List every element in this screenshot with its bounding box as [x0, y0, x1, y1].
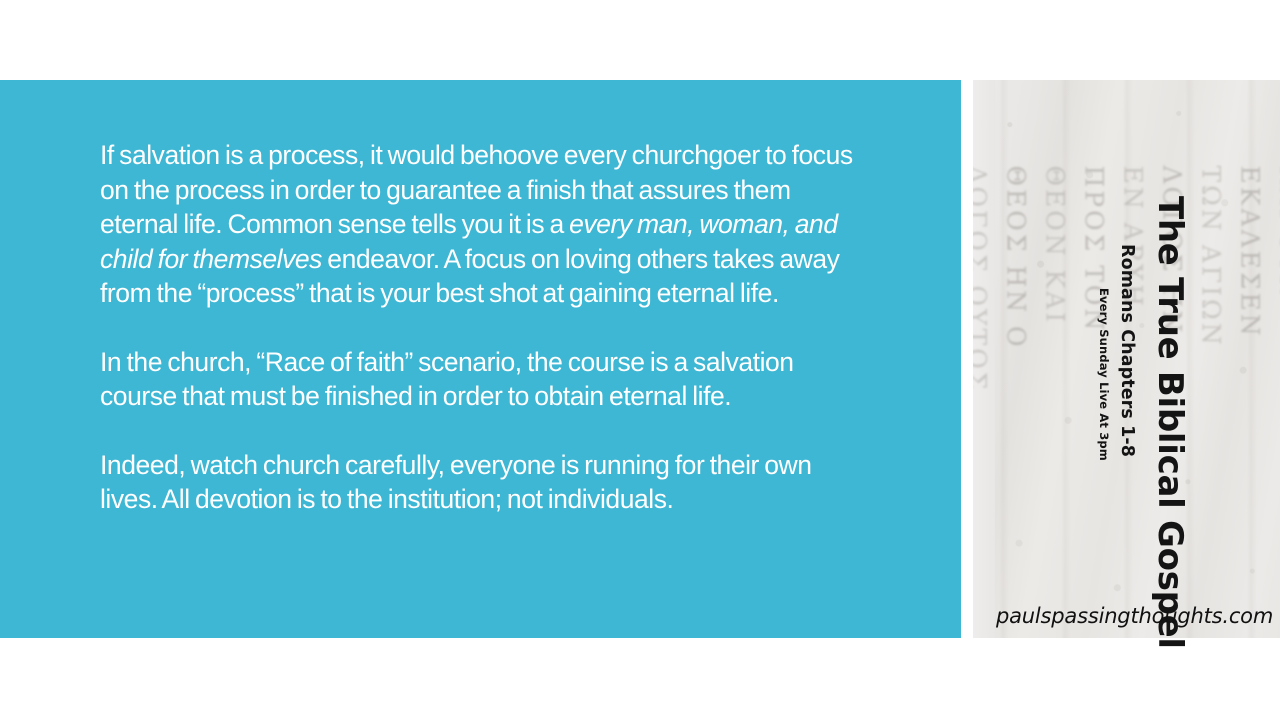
body-text-block: If salvation is a process, it would beho… — [100, 138, 860, 517]
body-paragraph: If salvation is a process, it would beho… — [100, 138, 860, 311]
text-run: In the church, “Race of faith” scenario,… — [100, 347, 794, 412]
series-title: The True Biblical Gospel — [1150, 196, 1190, 649]
slide-canvas: If salvation is a process, it would beho… — [0, 0, 1280, 720]
content-panel: If salvation is a process, it would beho… — [0, 80, 961, 638]
body-paragraph: In the church, “Race of faith” scenario,… — [100, 345, 860, 414]
series-subtitle: Romans Chapters 1-8 — [1117, 244, 1137, 457]
series-schedule: Every Sunday Live At 3pm — [1097, 288, 1111, 461]
body-paragraph: Indeed, watch church carefully, everyone… — [100, 448, 860, 517]
text-run: Indeed, watch church carefully, everyone… — [100, 450, 812, 515]
website-url[interactable]: paulspassingthoughts.com — [996, 604, 1273, 628]
